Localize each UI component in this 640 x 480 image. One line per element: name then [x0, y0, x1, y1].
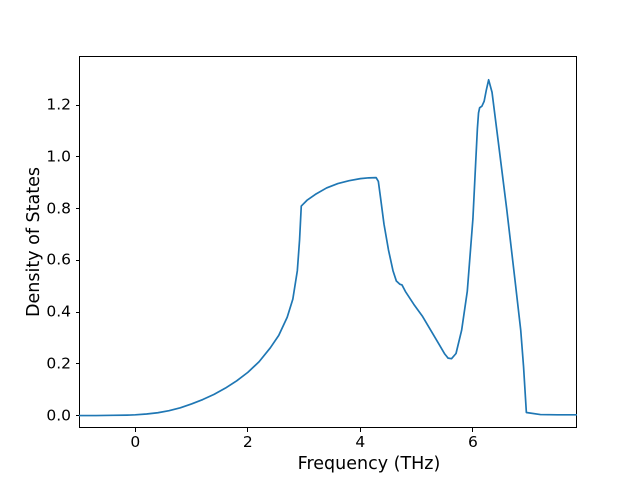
- y-tick-mark: [76, 105, 80, 106]
- x-tick-label: 6: [468, 435, 478, 451]
- x-tick-mark: [247, 428, 248, 432]
- dos-line-plot: [79, 56, 577, 428]
- dos-curve: [79, 80, 577, 416]
- y-tick-mark: [76, 260, 80, 261]
- y-tick-mark: [76, 415, 80, 416]
- x-axis-label-text: Frequency (THz): [298, 454, 441, 474]
- y-axis-label: Density of States: [26, 56, 52, 428]
- x-tick-mark: [135, 428, 136, 432]
- y-tick-mark: [76, 208, 80, 209]
- y-tick-mark: [76, 363, 80, 364]
- x-tick-mark: [472, 428, 473, 432]
- x-tick-mark: [360, 428, 361, 432]
- y-tick-mark: [76, 156, 80, 157]
- y-tick-mark: [76, 312, 80, 313]
- x-tick-label: 4: [355, 435, 365, 451]
- x-axis-label: Frequency (THz): [0, 456, 640, 474]
- figure-canvas: 0.00.20.40.60.81.01.2 0246 Frequency (TH…: [0, 0, 640, 480]
- x-tick-label: 2: [243, 435, 253, 451]
- x-tick-label: 0: [130, 435, 140, 451]
